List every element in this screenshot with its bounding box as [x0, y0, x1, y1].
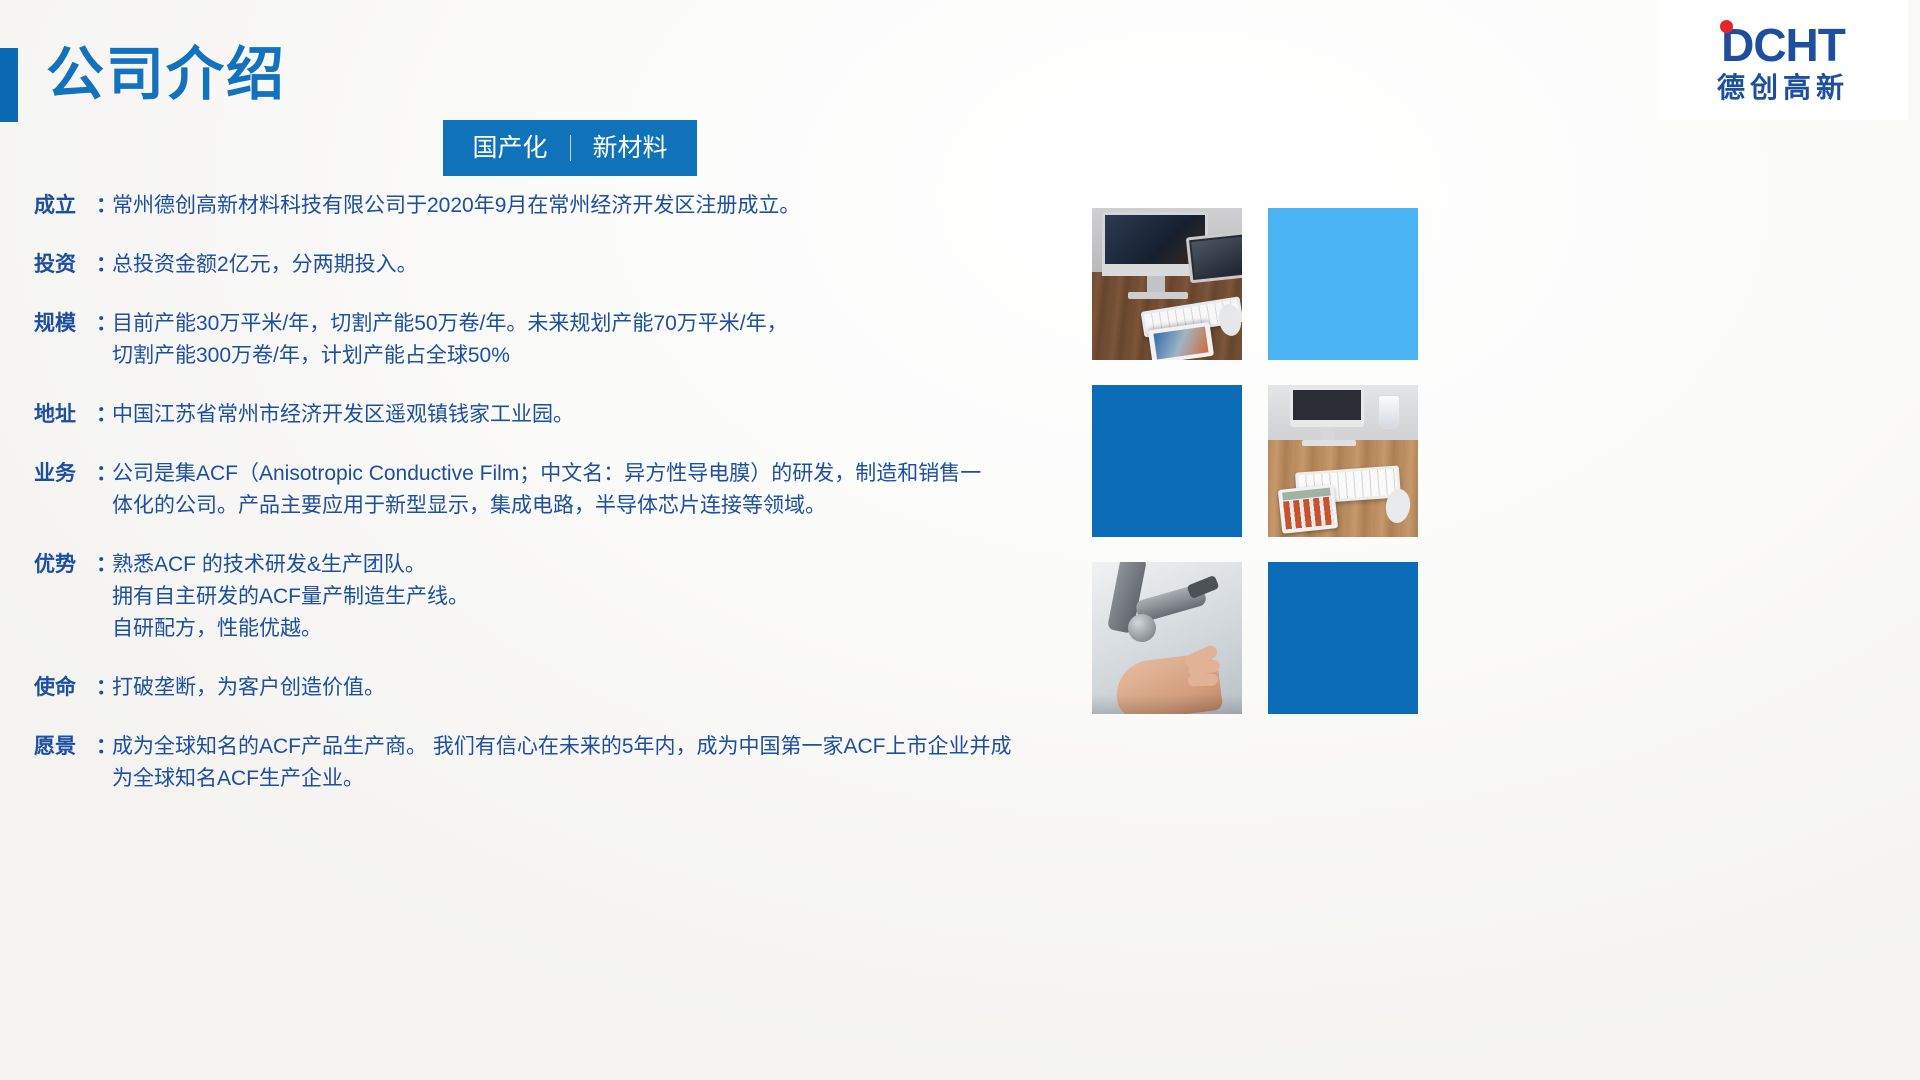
- info-row-value: 熟悉ACF 的技术研发&生产团队。拥有自主研发的ACF量产制造生产线。自研配方，…: [112, 549, 1094, 645]
- info-row-value: 目前产能30万平米/年，切割产能50万卷/年。未来规划产能70万平米/年，切割产…: [112, 308, 1094, 372]
- info-row-label: 成立: [34, 190, 96, 222]
- media-grid: [1092, 208, 1424, 714]
- desk-calculator-photo: [1268, 385, 1418, 537]
- info-row-line: 总投资金额2亿元，分两期投入。: [112, 249, 1094, 281]
- info-row-line: 成为全球知名的ACF产品生产商。 我们有信心在未来的5年内，成为中国第一家ACF…: [112, 731, 1094, 763]
- info-row-value: 常州德创高新材料科技有限公司于2020年9月在常州经济开发区注册成立。: [112, 190, 1094, 222]
- robot-arm-joint: [1128, 614, 1156, 642]
- info-row-line: 中国江苏省常州市经济开发区遥观镇钱家工业园。: [112, 399, 1094, 431]
- info-row-colon: ：: [96, 549, 112, 581]
- info-row-colon: ：: [96, 458, 112, 490]
- calculator: [1278, 484, 1338, 534]
- info-row-colon: ：: [96, 731, 112, 763]
- info-row-label: 愿景: [34, 731, 96, 763]
- info-row-line: 目前产能30万平米/年，切割产能50万卷/年。未来规划产能70万平米/年，: [112, 308, 1094, 340]
- info-row-line: 拥有自主研发的ACF量产制造生产线。: [112, 581, 1094, 613]
- info-row-label: 使命: [34, 672, 96, 704]
- info-row-colon: ：: [96, 399, 112, 431]
- info-row-colon: ：: [96, 249, 112, 281]
- company-logo: DCHT 德创高新: [1658, 0, 1908, 120]
- info-row-value: 成为全球知名的ACF产品生产商。 我们有信心在未来的5年内，成为中国第一家ACF…: [112, 731, 1094, 795]
- tag-divider: [570, 135, 571, 161]
- info-row-label: 优势: [34, 549, 96, 581]
- info-row-line: 切割产能300万卷/年，计划产能占全球50%: [112, 340, 1094, 372]
- logo-wordmark: DCHT: [1721, 22, 1845, 68]
- monitor-stand-base: [1302, 440, 1356, 446]
- info-row: 成立：常州德创高新材料科技有限公司于2020年9月在常州经济开发区注册成立。: [34, 190, 1094, 222]
- info-row: 地址：中国江苏省常州市经济开发区遥观镇钱家工业园。: [34, 399, 1094, 431]
- info-row: 投资：总投资金额2亿元，分两期投入。: [34, 249, 1094, 281]
- company-info-list: 成立：常州德创高新材料科技有限公司于2020年9月在常州经济开发区注册成立。投资…: [34, 190, 1094, 822]
- hand-finger: [1188, 673, 1218, 686]
- info-row-colon: ：: [96, 308, 112, 340]
- info-row: 使命：打破垄断，为客户创造价值。: [34, 672, 1094, 704]
- monitor-stand-neck: [1321, 427, 1335, 441]
- tag-localization: 国产化: [472, 136, 547, 161]
- info-row-line: 公司是集ACF（Anisotropic Conductive Film；中文名：…: [112, 458, 1094, 490]
- info-row: 规模：目前产能30万平米/年，切割产能50万卷/年。未来规划产能70万平米/年，…: [34, 308, 1094, 372]
- monitor: [1290, 387, 1364, 427]
- info-row-line: 为全球知名ACF生产企业。: [112, 763, 1094, 795]
- category-tag-bar: 国产化 新材料: [443, 120, 697, 176]
- laptop: [1186, 231, 1242, 284]
- dark-blue-block-left: [1092, 385, 1242, 537]
- photo-shadow: [1092, 694, 1242, 714]
- light-blue-block: [1268, 208, 1418, 360]
- info-row: 愿景：成为全球知名的ACF产品生产商。 我们有信心在未来的5年内，成为中国第一家…: [34, 731, 1094, 795]
- info-row-label: 地址: [34, 399, 96, 431]
- info-row-label: 投资: [34, 249, 96, 281]
- info-row-value: 打破垄断，为客户创造价值。: [112, 672, 1094, 704]
- info-row-line: 体化的公司。产品主要应用于新型显示，集成电路，半导体芯片连接等领域。: [112, 490, 1094, 522]
- title-accent-bar: [0, 48, 18, 122]
- info-row-label: 业务: [34, 458, 96, 490]
- imac-desk-photo: [1092, 208, 1242, 360]
- info-row-value: 公司是集ACF（Anisotropic Conductive Film；中文名：…: [112, 458, 1094, 522]
- info-row: 业务：公司是集ACF（Anisotropic Conductive Film；中…: [34, 458, 1094, 522]
- imac-stand-base: [1128, 292, 1188, 299]
- info-row-line: 自研配方，性能优越。: [112, 613, 1094, 645]
- logo-chinese-name: 德创高新: [1717, 74, 1849, 102]
- info-row-colon: ：: [96, 672, 112, 704]
- logo-wordmark-text: DCHT: [1721, 19, 1845, 71]
- drinking-glass: [1378, 395, 1400, 429]
- info-row-colon: ：: [96, 190, 112, 222]
- info-row: 优势：熟悉ACF 的技术研发&生产团队。拥有自主研发的ACF量产制造生产线。自研…: [34, 549, 1094, 645]
- info-row-value: 总投资金额2亿元，分两期投入。: [112, 249, 1094, 281]
- info-row-line: 打破垄断，为客户创造价值。: [112, 672, 1094, 704]
- dark-blue-block-right: [1268, 562, 1418, 714]
- info-row-label: 规模: [34, 308, 96, 340]
- page-title: 公司介绍: [46, 40, 286, 110]
- tag-new-material: 新材料: [593, 136, 668, 161]
- info-row-line: 熟悉ACF 的技术研发&生产团队。: [112, 549, 1094, 581]
- info-row-value: 中国江苏省常州市经济开发区遥观镇钱家工业园。: [112, 399, 1094, 431]
- info-row-line: 常州德创高新材料科技有限公司于2020年9月在常州经济开发区注册成立。: [112, 190, 1094, 222]
- robot-arm-hand-photo: [1092, 562, 1242, 714]
